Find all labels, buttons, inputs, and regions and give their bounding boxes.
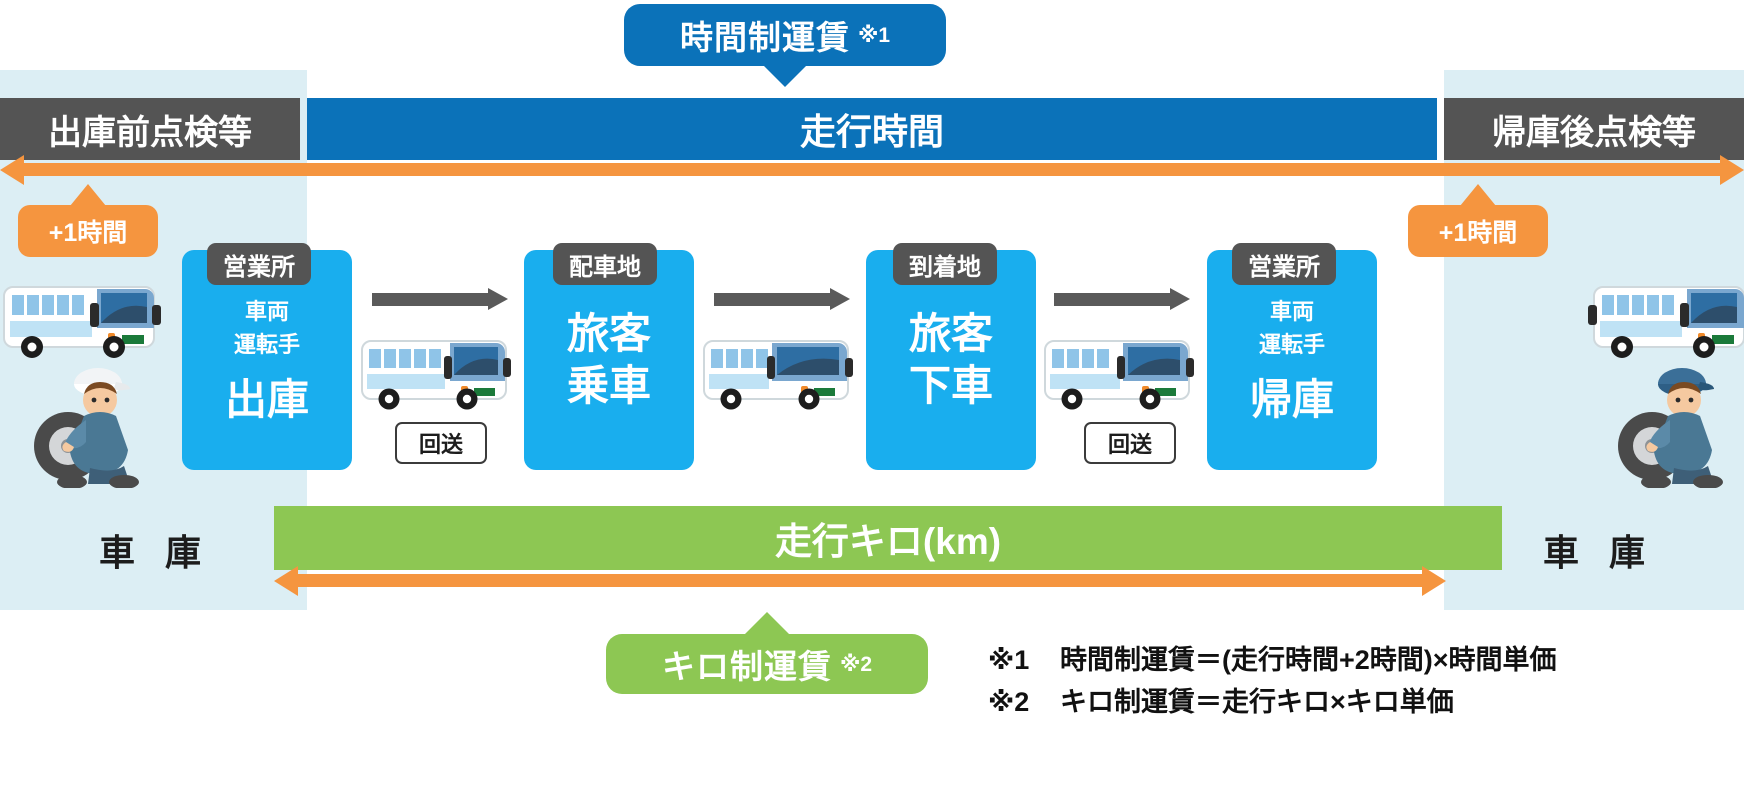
km-fare-callout: キロ制運賃 ※2 bbox=[606, 634, 928, 694]
km-span-arrow-right-head-icon bbox=[1422, 566, 1446, 596]
deadhead-tag-2: 回送 bbox=[1084, 422, 1176, 464]
footnote-1-mark: ※1 bbox=[988, 640, 1060, 682]
process-box-1-main: 出庫 bbox=[225, 375, 309, 425]
process-tag-2: 配車地 bbox=[553, 243, 657, 285]
header-post-check: 帰庫後点検等 bbox=[1444, 98, 1744, 160]
header-running-time: 走行時間 bbox=[307, 98, 1437, 160]
transition-arrow-2-icon bbox=[714, 288, 850, 310]
bus-illustration-left bbox=[2, 277, 162, 368]
time-span-arrow-left-head-icon bbox=[0, 155, 24, 185]
km-span-arrow-left-head-icon bbox=[274, 566, 298, 596]
transition-arrow-1-icon bbox=[372, 288, 508, 310]
process-box-4-sub1: 車両 bbox=[1270, 295, 1314, 328]
process-box-1-sub1: 車両 bbox=[245, 295, 289, 328]
process-box-2-main2: 乗車 bbox=[567, 360, 651, 413]
time-fare-callout-tail-icon bbox=[763, 65, 807, 87]
process-box-4-main: 帰庫 bbox=[1250, 375, 1334, 425]
bus-illustration-deadhead-1 bbox=[360, 333, 512, 420]
bus-illustration-right bbox=[1588, 277, 1744, 368]
process-box-1-sub2: 運転手 bbox=[234, 328, 300, 361]
process-box-4-sub2: 運転手 bbox=[1259, 328, 1325, 361]
mechanic-illustration-left bbox=[28, 358, 148, 493]
deadhead-tag-1: 回送 bbox=[395, 422, 487, 464]
time-fare-callout: 時間制運賃 ※1 bbox=[624, 4, 946, 66]
km-fare-callout-label: キロ制運賃 bbox=[662, 640, 832, 688]
process-box-2-main1: 旅客 bbox=[567, 308, 651, 361]
transition-arrow-3-icon bbox=[1054, 288, 1190, 310]
plus-hour-badge-right: +1時間 bbox=[1408, 205, 1548, 257]
running-distance-bar: 走行キロ(km) bbox=[274, 506, 1502, 570]
process-box-3-main1: 旅客 bbox=[909, 308, 993, 361]
time-fare-callout-note: ※1 bbox=[858, 23, 890, 48]
header-pre-check: 出庫前点検等 bbox=[0, 98, 300, 160]
mechanic-illustration-right bbox=[1612, 358, 1732, 493]
footnote-2-mark: ※2 bbox=[988, 682, 1060, 724]
garage-label-left: 車庫 bbox=[0, 520, 300, 580]
plus-hour-right-tail-icon bbox=[1460, 184, 1496, 206]
bus-illustration-deadhead-2 bbox=[1043, 333, 1195, 420]
footnotes: ※1 時間制運賃＝(走行時間+2時間)×時間単価 ※2 キロ制運賃＝走行キロ×キ… bbox=[988, 640, 1557, 724]
plus-hour-left-tail-icon bbox=[70, 184, 106, 206]
plus-hour-badge-left: +1時間 bbox=[18, 205, 158, 257]
process-tag-4: 営業所 bbox=[1232, 243, 1336, 285]
time-fare-callout-label: 時間制運賃 bbox=[680, 11, 850, 59]
process-box-3-main2: 下車 bbox=[909, 360, 993, 413]
process-tag-1: 営業所 bbox=[207, 243, 311, 285]
footnote-2-text: キロ制運賃＝走行キロ×キロ単価 bbox=[1060, 682, 1454, 724]
km-fare-callout-note: ※2 bbox=[840, 652, 872, 677]
km-fare-callout-tail-icon bbox=[745, 612, 789, 634]
footnote-row-2: ※2 キロ制運賃＝走行キロ×キロ単価 bbox=[988, 682, 1557, 724]
footnote-1-text: 時間制運賃＝(走行時間+2時間)×時間単価 bbox=[1060, 640, 1557, 682]
bus-illustration-passenger bbox=[702, 333, 854, 420]
footnote-row-1: ※1 時間制運賃＝(走行時間+2時間)×時間単価 bbox=[988, 640, 1557, 682]
time-span-arrow-right-head-icon bbox=[1720, 155, 1744, 185]
process-tag-3: 到着地 bbox=[893, 243, 997, 285]
km-span-arrow-shaft bbox=[296, 574, 1424, 587]
time-span-arrow-shaft bbox=[22, 163, 1722, 176]
fare-diagram: 時間制運賃 ※1 出庫前点検等 走行時間 帰庫後点検等 +1時間 +1時間 bbox=[0, 0, 1744, 810]
